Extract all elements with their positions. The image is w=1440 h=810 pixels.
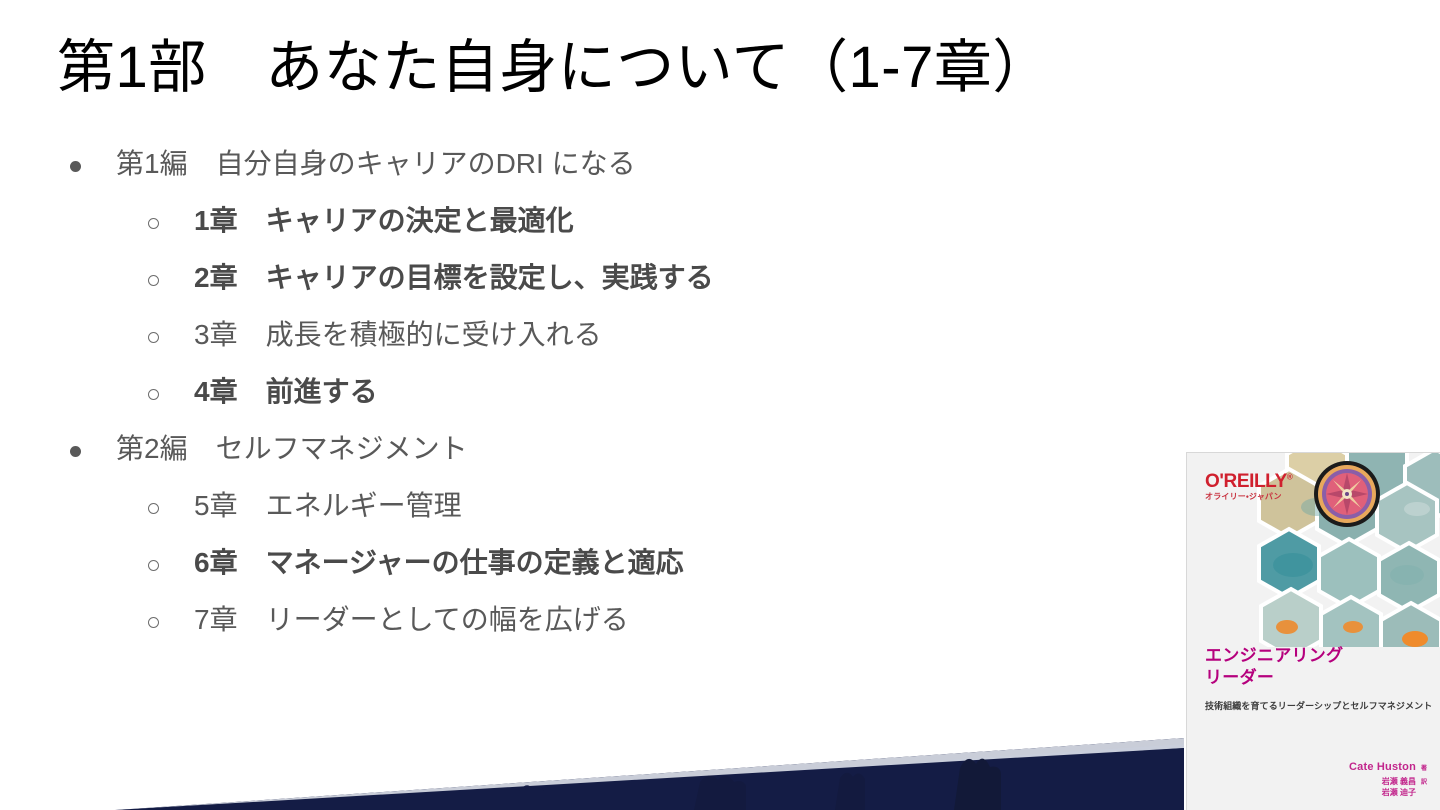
filled-disc-bullet-icon [70, 446, 116, 462]
list-item: 第2編 セルフマネジメント [70, 435, 1160, 492]
page-title: 第1部 あなた自身について（1-7章） [57, 36, 1107, 101]
list-item: 第1編 自分自身のキャリアのDRI になる [70, 150, 1160, 207]
list-item: 3章 成長を積極的に受け入れる [70, 321, 1160, 378]
translator-name-1: 岩瀬 義昌 [1382, 776, 1416, 788]
list-item-label: 2章 キャリアの目標を設定し、実践する [194, 264, 714, 292]
list-item: 4章 前進する [70, 378, 1160, 435]
list-item-label: 第2編 セルフマネジメント [116, 435, 468, 463]
oreilly-text: O'REILLY [1205, 471, 1287, 492]
filled-disc-bullet-icon [70, 161, 116, 177]
list-item-label: 6章 マネージャーの仕事の定義と適応 [194, 549, 684, 577]
hollow-circle-bullet-icon [148, 560, 194, 576]
book-title-line1: エンジニアリング [1205, 645, 1343, 667]
bottom-landscape-photo [0, 690, 1184, 810]
outline-list: 第1編 自分自身のキャリアのDRI になる 1章 キャリアの決定と最適化 2章 … [70, 150, 1160, 663]
oreilly-wordmark: O'REILLY® [1205, 472, 1292, 491]
hollow-circle-bullet-icon [148, 389, 194, 405]
translator-role-label: 訳 [1421, 779, 1429, 788]
list-item: 5章 エネルギー管理 [70, 492, 1160, 549]
translator-name-2: 岩瀬 迪子 [1382, 787, 1416, 799]
list-item: 1章 キャリアの決定と最適化 [70, 207, 1160, 264]
book-title: エンジニアリング リーダー [1205, 645, 1343, 689]
list-item: 7章 リーダーとしての幅を広げる [70, 606, 1160, 663]
author-name: Cate Huston [1349, 760, 1416, 776]
list-item-label: 3章 成長を積極的に受け入れる [194, 321, 602, 349]
translator-row: 岩瀬 義昌 訳 [1349, 776, 1429, 788]
book-title-line2: リーダー [1205, 667, 1343, 689]
list-item-label: 5章 エネルギー管理 [194, 492, 462, 520]
book-subtitle: 技術組織を育てるリーダーシップとセルフマネジメント [1205, 699, 1432, 712]
book-authors: Cate Huston 著 岩瀬 義昌 訳 岩瀬 迪子 訳 [1349, 760, 1429, 799]
book-cover-image: O'REILLY® オライリー・ジャパン エンジニアリング リーダー 技術組織を… [1186, 452, 1440, 810]
translator-row: 岩瀬 迪子 訳 [1349, 787, 1429, 799]
hollow-circle-bullet-icon [148, 332, 194, 348]
author-row: Cate Huston 著 [1349, 760, 1429, 776]
author-role-label: 著 [1421, 765, 1429, 774]
hollow-circle-bullet-icon [148, 218, 194, 234]
list-item-label: 4章 前進する [194, 378, 378, 406]
registered-trademark-icon: ® [1287, 473, 1293, 482]
list-item-label: 第1編 自分自身のキャリアのDRI になる [116, 150, 636, 178]
oreilly-logo: O'REILLY® オライリー・ジャパン [1205, 472, 1292, 501]
slide-canvas: 第1部 あなた自身について（1-7章） 第1編 自分自身のキャリアのDRI にな… [0, 0, 1440, 810]
list-item: 6章 マネージャーの仕事の定義と適応 [70, 549, 1160, 606]
hollow-circle-bullet-icon [148, 275, 194, 291]
oreilly-japan-label: オライリー・ジャパン [1205, 493, 1292, 501]
list-item: 2章 キャリアの目標を設定し、実践する [70, 264, 1160, 321]
hollow-circle-bullet-icon [148, 617, 194, 633]
list-item-label: 7章 リーダーとしての幅を広げる [194, 606, 629, 634]
list-item-label: 1章 キャリアの決定と最適化 [194, 207, 574, 235]
hollow-circle-bullet-icon [148, 503, 194, 519]
